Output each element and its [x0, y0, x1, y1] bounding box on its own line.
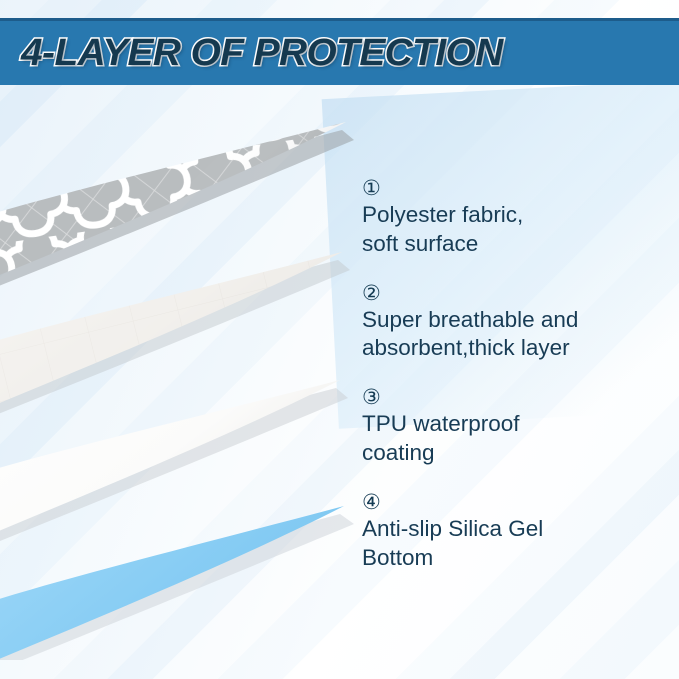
- infographic-page: 4-LAYER OF PROTECTION: [0, 0, 679, 679]
- layer-stack-illustration: [0, 120, 388, 660]
- callout-item-2: ② Super breathable and absorbent,thick l…: [362, 283, 672, 364]
- callout-number-2: ②: [362, 283, 672, 305]
- callout-item-4: ④ Anti-slip Silica Gel Bottom: [362, 492, 672, 573]
- callout-list: ① Polyester fabric, soft surface ② Super…: [362, 178, 672, 597]
- layer-silica-gel-bottom: [0, 506, 354, 660]
- callout-item-3: ③ TPU waterproof coating: [362, 387, 672, 468]
- callout-text-1: Polyester fabric, soft surface: [362, 201, 672, 259]
- callout-text-4: Anti-slip Silica Gel Bottom: [362, 515, 672, 573]
- callout-number-1: ①: [362, 178, 672, 200]
- callout-item-1: ① Polyester fabric, soft surface: [362, 178, 672, 259]
- callout-text-3: TPU waterproof coating: [362, 410, 672, 468]
- callout-number-3: ③: [362, 387, 672, 409]
- page-title: 4-LAYER OF PROTECTION: [21, 32, 503, 75]
- callout-text-2: Super breathable and absorbent,thick lay…: [362, 306, 672, 364]
- callout-number-4: ④: [362, 492, 672, 514]
- header-banner: 4-LAYER OF PROTECTION: [0, 18, 679, 85]
